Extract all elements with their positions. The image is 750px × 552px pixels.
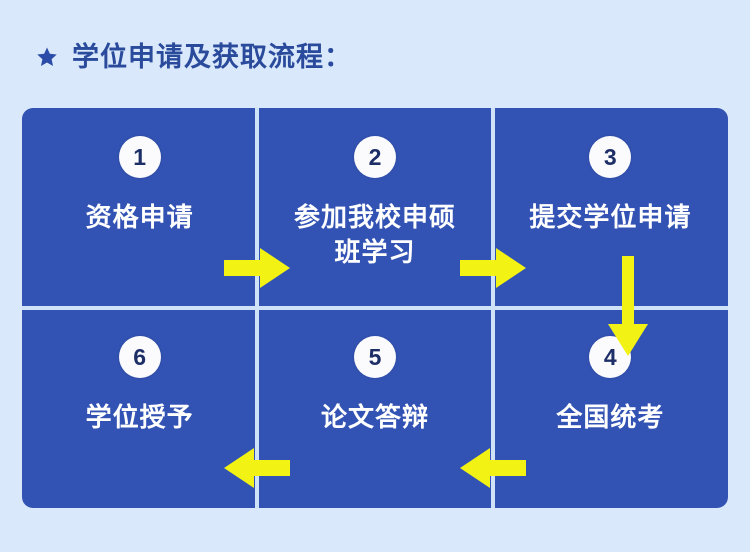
flow-step-6[interactable]: 6 学位授予 — [22, 308, 257, 508]
flow-step-1[interactable]: 1 资格申请 — [22, 108, 257, 308]
step-label-3: 提交学位申请 — [529, 200, 691, 235]
step-number-badge-5: 5 — [354, 336, 396, 378]
flow-step-2[interactable]: 2 参加我校申硕班学习 — [257, 108, 492, 308]
step-label-1: 资格申请 — [86, 200, 194, 235]
arrow-down-step3-to-step4-icon — [608, 256, 648, 356]
arrow-left-step4-to-step5-icon — [460, 448, 526, 488]
step-label-5: 论文答辩 — [321, 400, 429, 435]
step-number-badge-1: 1 — [119, 136, 161, 178]
step-label-2: 参加我校申硕班学习 — [290, 200, 460, 270]
step-number-badge-6: 6 — [119, 336, 161, 378]
step-label-6: 学位授予 — [86, 400, 194, 435]
flow-step-5[interactable]: 5 论文答辩 — [257, 308, 492, 508]
page-title: 学位申请及获取流程： — [72, 44, 352, 71]
step-label-4: 全国统考 — [556, 400, 664, 435]
arrow-right-step2-to-step3-icon — [460, 248, 526, 288]
arrow-right-step1-to-step2-icon — [224, 248, 290, 288]
step-number-badge-3: 3 — [589, 136, 631, 178]
degree-application-flow-panel: 1 资格申请 2 参加我校申硕班学习 3 提交学位申请 6 学位授予 5 论文答… — [22, 108, 728, 508]
step-number-badge-2: 2 — [354, 136, 396, 178]
star-icon — [36, 46, 58, 68]
page-title-row: 学位申请及获取流程： — [36, 36, 352, 78]
arrow-left-step5-to-step6-icon — [224, 448, 290, 488]
